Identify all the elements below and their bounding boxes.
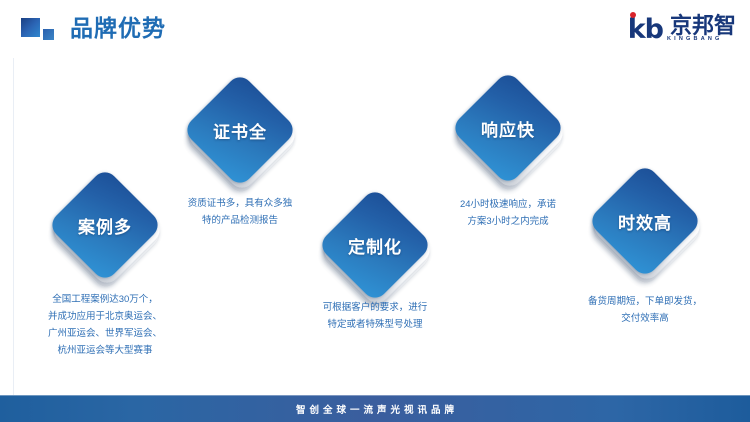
- logo-text-group: 京邦智 KINGBANG: [666, 15, 736, 43]
- diamond-face-1: [47, 167, 163, 283]
- footer-slogan: 智创全球一流声光视讯品牌: [292, 402, 458, 416]
- page-title: 品牌优势: [70, 13, 166, 43]
- feature-caption-1: 全国工程案例达30万个， 并成功应用于北京奥运会、 广州亚运会、世界军运会、 杭…: [10, 291, 200, 359]
- feature-caption-3: 可根据客户的要求，进行 特定或者特殊型号处理: [282, 299, 468, 333]
- diamond-shape-1: 案例多: [47, 167, 163, 283]
- logo-dot-icon: [630, 12, 636, 18]
- diamond-shape-2: 证书全: [182, 72, 298, 188]
- footer-divider: [0, 395, 750, 396]
- diamond-shape-5: 时效高: [587, 163, 703, 279]
- logo-english-name: KINGBANG: [667, 36, 723, 43]
- logo-chinese-name: 京邦智: [670, 15, 736, 37]
- feature-caption-5: 备货周期短，下单即发货， 交付效率高: [552, 293, 738, 327]
- brand-logo: kb 京邦智 KINGBANG: [628, 13, 736, 45]
- logo-mark-text: kb: [628, 16, 663, 43]
- decorative-square-small-icon: [43, 29, 54, 40]
- decorative-square-large-icon: [21, 18, 40, 37]
- diamond-face-4: [450, 70, 566, 186]
- feature-caption-4: 24小时极速响应，承诺 方案3小时之内完成: [415, 196, 601, 230]
- feature-card-5[interactable]: 时效高: [587, 163, 703, 279]
- feature-card-1[interactable]: 案例多: [47, 167, 163, 283]
- slide-header: 品牌优势 kb 京邦智 KINGBANG: [0, 0, 750, 58]
- feature-card-2[interactable]: 证书全: [182, 72, 298, 188]
- diamond-face-5: [587, 163, 703, 279]
- feature-card-4[interactable]: 响应快: [450, 70, 566, 186]
- feature-caption-2: 资质证书多，具有众多独 特的产品检测报告: [147, 195, 333, 229]
- slide-footer: 智创全球一流声光视讯品牌: [0, 395, 750, 422]
- diamond-shape-4: 响应快: [450, 70, 566, 186]
- slide-canvas: 品牌优势 kb 京邦智 KINGBANG 案例多 全国工程案例达30万个， 并成…: [0, 0, 750, 422]
- diamond-face-2: [182, 72, 298, 188]
